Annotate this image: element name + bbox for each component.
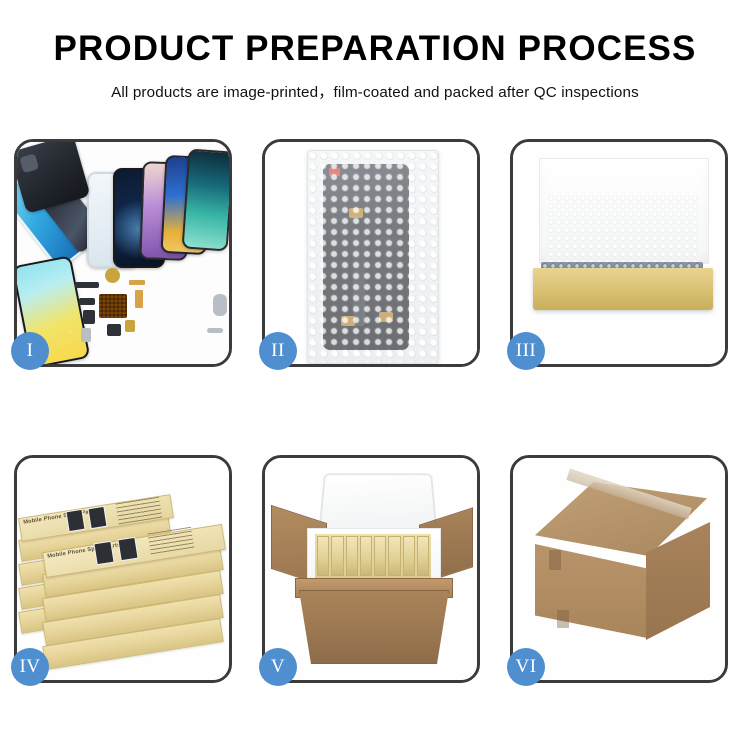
sim-tray-component: [81, 328, 91, 342]
vibrator-component: [107, 324, 121, 336]
parts-collage-illustration: [17, 142, 229, 364]
screw-set-component: [125, 320, 135, 332]
cable-connector-top: [349, 208, 363, 218]
process-step-panel-4: Mobile Phone Spare Parts Mobile Phone Sp…: [14, 455, 232, 683]
step-badge-6: VI: [507, 648, 545, 686]
step-5-image: [265, 458, 477, 680]
step-badge-4: IV: [11, 648, 49, 686]
phone-screen-teal: [182, 149, 229, 252]
step-3-image: [513, 142, 725, 364]
step-2-image: [265, 142, 477, 364]
step-badge-5: V: [259, 648, 297, 686]
step-badge-2: II: [259, 332, 297, 370]
screen-flex-cable: [353, 216, 365, 326]
step-4-image: Mobile Phone Spare Parts Mobile Phone Sp…: [17, 458, 229, 680]
screwdriver-component: [207, 328, 223, 333]
packed-box: [374, 536, 386, 576]
process-step-panel-3: III: [510, 139, 728, 367]
page-header: PRODUCT PREPARATION PROCESS All products…: [0, 0, 750, 102]
carton-seam-upper: [549, 550, 561, 570]
process-step-grid: I II III: [14, 139, 728, 683]
box-phone-image-front-2: [117, 537, 138, 562]
small-connector-component: [79, 298, 95, 305]
packed-box: [346, 536, 358, 576]
page-subtitle: All products are image-printed，film-coat…: [0, 80, 750, 102]
carton-front-panel: [299, 590, 449, 664]
cable-connector-bottom: [341, 316, 355, 326]
ic-board-component: [99, 294, 127, 318]
step-badge-3: III: [507, 332, 545, 370]
packed-box: [317, 536, 329, 576]
box-phone-image-front-1: [93, 541, 114, 566]
speaker-component: [105, 268, 120, 283]
step-badge-1: I: [11, 332, 49, 370]
foam-padding: [547, 194, 699, 270]
process-step-panel-6: VI: [510, 455, 728, 683]
packed-box: [360, 536, 372, 576]
process-step-panel-5: V: [262, 455, 480, 683]
wrapped-lcd-screen: [323, 164, 409, 350]
flex-cable-component: [129, 280, 145, 285]
cable-connector-bottom-2: [379, 312, 393, 322]
packed-box: [331, 536, 343, 576]
box-phone-image-rear-1: [65, 509, 85, 532]
red-qc-sticker: [329, 168, 340, 176]
kraft-box-tray: [533, 268, 713, 310]
packed-box: [417, 536, 429, 576]
tool-component: [213, 294, 227, 316]
packed-kraft-boxes: [315, 534, 431, 578]
packed-box: [388, 536, 400, 576]
step-1-image: [17, 142, 229, 364]
antenna-strip-component: [75, 282, 99, 288]
process-step-panel-1: I: [14, 139, 232, 367]
kraft-box-stack: Mobile Phone Spare Parts Mobile Phone Sp…: [19, 476, 227, 666]
step-6-image: [513, 458, 725, 680]
bubble-wrap-illustration: [265, 142, 477, 364]
page-title: PRODUCT PREPARATION PROCESS: [0, 31, 750, 68]
packed-box: [403, 536, 415, 576]
carton-seam-lower: [557, 610, 569, 628]
camera-module-component: [83, 310, 95, 324]
process-step-panel-2: II: [262, 139, 480, 367]
box-phone-image-rear-2: [87, 506, 107, 529]
flex-cable-component-2: [135, 290, 143, 308]
